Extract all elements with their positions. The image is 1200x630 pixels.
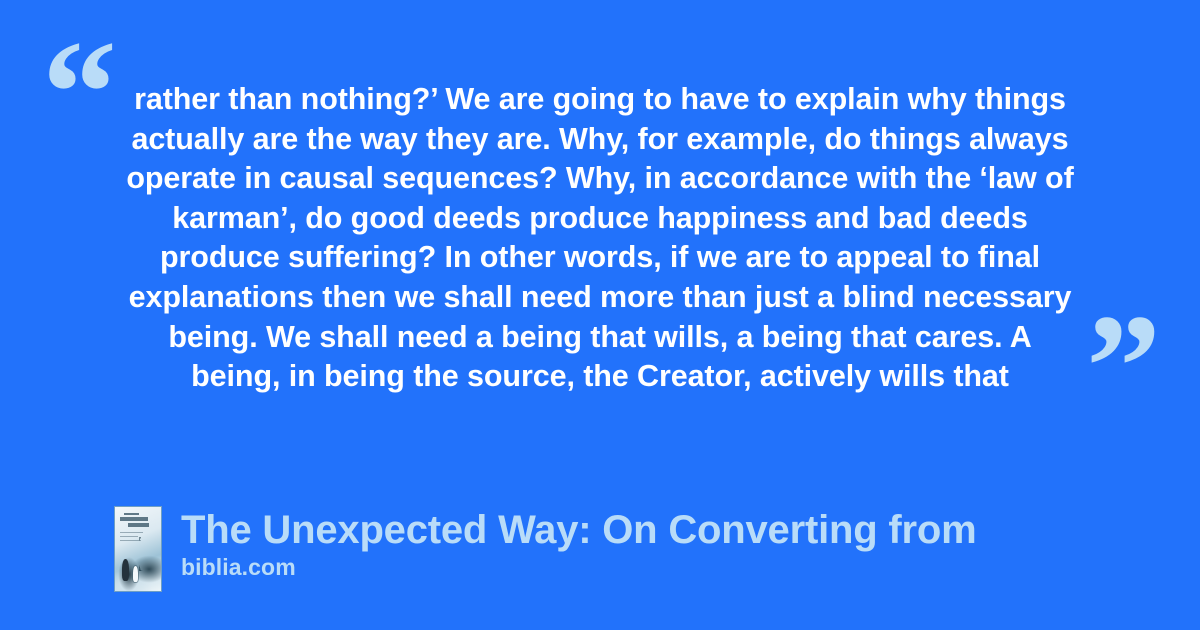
quote-line: rather than nothing?’ We are going to ha… — [110, 80, 1090, 120]
quote-line: explanations then we shall need more tha… — [110, 278, 1090, 318]
cover-title-text — [120, 513, 153, 538]
cover-branch-detail — [139, 537, 159, 571]
attribution: The Unexpected Way: On Converting from b… — [114, 506, 976, 592]
quote-text: rather than nothing?’ We are going to ha… — [110, 80, 1090, 397]
closing-quote-icon: ” — [1086, 292, 1159, 442]
quote-line: operate in causal sequences? Why, in acc… — [110, 159, 1090, 199]
quote-line: produce suffering? In other words, if we… — [110, 238, 1090, 278]
book-title: The Unexpected Way: On Converting from — [181, 507, 976, 553]
quote-line: karman’, do good deeds produce happiness… — [110, 199, 1090, 239]
quote-line: actually are the way they are. Why, for … — [110, 120, 1090, 160]
opening-quote-icon: “ — [42, 18, 115, 168]
book-cover-thumbnail-icon — [114, 506, 162, 592]
quote-share-card: “ rather than nothing?’ We are going to … — [0, 0, 1200, 630]
cover-figure-dark — [122, 559, 129, 581]
source-site: biblia.com — [181, 553, 976, 581]
quote-line: being. We shall need a being that wills,… — [110, 318, 1090, 358]
attribution-text: The Unexpected Way: On Converting from b… — [181, 506, 976, 581]
quote-line: being, in being the source, the Creator,… — [110, 357, 1090, 397]
